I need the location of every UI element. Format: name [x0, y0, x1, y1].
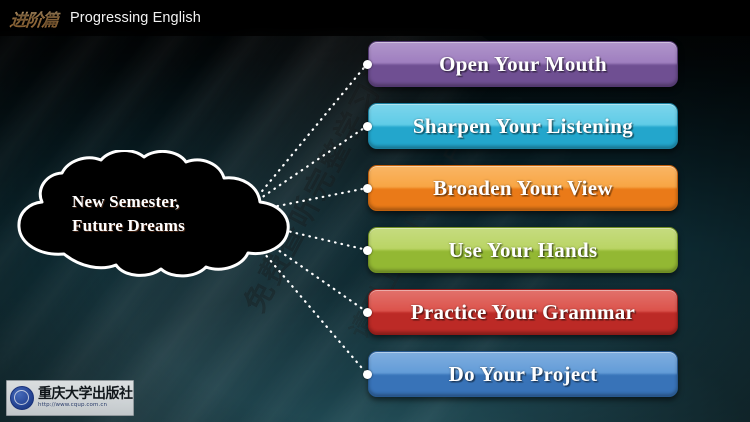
publisher-seal-icon — [10, 386, 34, 410]
connector-endpoint-dot — [363, 246, 372, 255]
menu-button-label: Sharpen Your Listening — [413, 114, 633, 139]
menu-button-3[interactable]: Broaden Your View — [368, 165, 678, 211]
connector-endpoint-dot — [363, 308, 372, 317]
slide-header: 进阶篇 Progressing English — [0, 0, 750, 36]
header-chinese-badge: 进阶篇 — [7, 6, 62, 31]
menu-button-label: Practice Your Grammar — [411, 300, 635, 325]
menu-button-5[interactable]: Practice Your Grammar — [368, 289, 678, 335]
page-title: Progressing English — [70, 10, 201, 26]
connector-endpoint-dot — [363, 370, 372, 379]
slide-canvas: 免费查听完整学习资料 请到上海小说门户 进阶篇 Progressing Engl… — [0, 0, 750, 422]
cloud-callout: New Semester, Future Dreams — [6, 150, 298, 278]
connector-endpoint-dot — [363, 122, 372, 131]
cloud-shape — [6, 150, 298, 278]
publisher-name: 重庆大学出版社 — [38, 387, 133, 401]
menu-button-2[interactable]: Sharpen Your Listening — [368, 103, 678, 149]
publisher-url: http://www.cqup.com.cn — [38, 403, 133, 409]
menu-button-label: Use Your Hands — [449, 238, 598, 263]
connector-endpoint-dot — [363, 184, 372, 193]
connector-endpoint-dot — [363, 60, 372, 69]
publisher-text: 重庆大学出版社 http://www.cqup.com.cn — [38, 387, 133, 409]
menu-button-label: Do Your Project — [449, 362, 598, 387]
menu-button-1[interactable]: Open Your Mouth — [368, 41, 678, 87]
menu-button-label: Broaden Your View — [433, 176, 613, 201]
menu-button-4[interactable]: Use Your Hands — [368, 227, 678, 273]
menu-button-label: Open Your Mouth — [439, 52, 607, 77]
publisher-logo: 重庆大学出版社 http://www.cqup.com.cn — [6, 380, 134, 416]
menu-button-6[interactable]: Do Your Project — [368, 351, 678, 397]
